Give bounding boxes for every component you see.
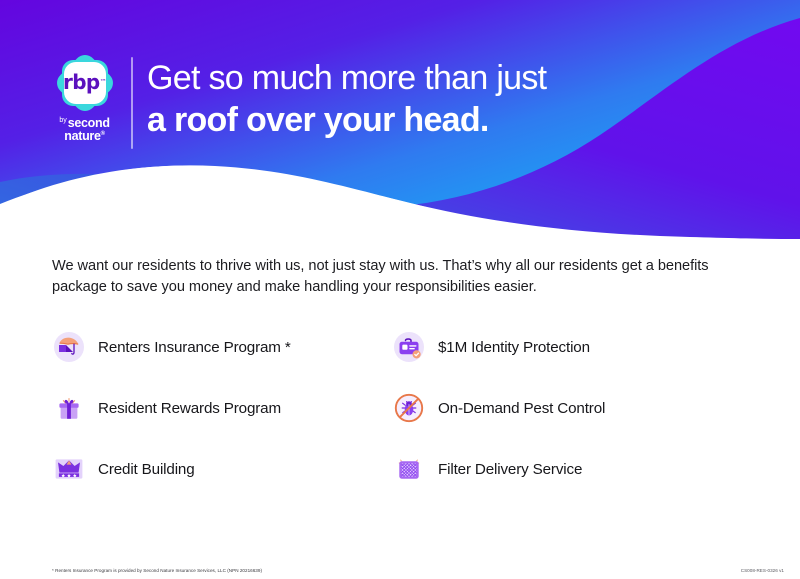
rbp-logo-mark: rbp™ bbox=[54, 52, 116, 114]
benefit-label: Renters Insurance Program * bbox=[98, 339, 291, 356]
benefit-item-filter-delivery: Filter Delivery Service bbox=[392, 446, 732, 492]
crown-stars-icon bbox=[52, 452, 86, 486]
logo-headline-divider bbox=[131, 57, 133, 149]
logo-by-label: by bbox=[59, 117, 66, 124]
umbrella-house-icon bbox=[52, 330, 86, 364]
benefit-label: On-Demand Pest Control bbox=[438, 400, 605, 417]
logo-nature-text: nature bbox=[64, 129, 100, 143]
gift-box-icon bbox=[52, 391, 86, 425]
logo-nature-label: nature® bbox=[47, 130, 122, 143]
benefit-item-renters-insurance: Renters Insurance Program * bbox=[52, 324, 392, 370]
headline-line-2: a roof over your head. bbox=[147, 100, 767, 140]
headline-line-1: Get so much more than just bbox=[147, 58, 767, 98]
logo-tm: ™ bbox=[100, 78, 106, 86]
filter-mesh-icon bbox=[392, 452, 426, 486]
no-bug-icon bbox=[392, 391, 426, 425]
footer-disclaimer: * Renters Insurance Program is provided … bbox=[52, 568, 262, 573]
benefit-item-identity-protection: $1M Identity Protection bbox=[392, 324, 732, 370]
rbp-benefits-flyer: rbp™ bysecond nature® Get so much more t… bbox=[0, 0, 800, 579]
rbp-logo: rbp™ bysecond nature® bbox=[47, 52, 122, 152]
logo-reg: ® bbox=[101, 131, 105, 137]
benefit-item-credit-building: Credit Building bbox=[52, 446, 392, 492]
id-briefcase-check-icon bbox=[392, 330, 426, 364]
intro-paragraph: We want our residents to thrive with us,… bbox=[52, 256, 742, 298]
benefits-grid: Renters Insurance Program * $1M Identity… bbox=[52, 324, 752, 507]
benefit-label: Filter Delivery Service bbox=[438, 461, 582, 478]
benefit-item-pest-control: On-Demand Pest Control bbox=[392, 385, 732, 431]
logo-rbp-label: rbp bbox=[63, 70, 100, 94]
benefit-label: Credit Building bbox=[98, 461, 195, 478]
hero-headline: Get so much more than just a roof over y… bbox=[147, 58, 767, 140]
footer-doc-code: CS008-RES-0326 v1 bbox=[741, 568, 784, 573]
benefit-item-resident-rewards: Resident Rewards Program bbox=[52, 385, 392, 431]
logo-rbp-text: rbp™ bbox=[54, 52, 116, 114]
hero-banner: rbp™ bysecond nature® Get so much more t… bbox=[0, 0, 800, 240]
benefit-label: Resident Rewards Program bbox=[98, 400, 281, 417]
logo-byline: bysecond nature® bbox=[47, 117, 122, 143]
benefit-label: $1M Identity Protection bbox=[438, 339, 590, 356]
